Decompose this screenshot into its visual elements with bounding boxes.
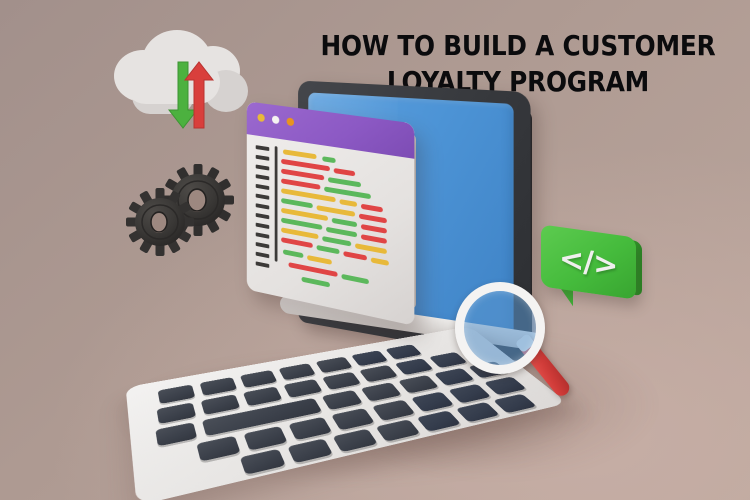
magnifier-lens	[455, 282, 545, 374]
code-editor-window	[240, 112, 415, 307]
illustration-canvas: HOW TO BUILD A CUSTOMER LOYALTY PROGRAM	[0, 0, 750, 500]
code-indent-bar	[275, 146, 278, 262]
code-gutter	[256, 145, 270, 274]
dot-orange-icon	[287, 117, 294, 126]
dot-yellow-icon	[258, 113, 265, 122]
code-speech-bubble: </>	[541, 231, 647, 309]
page-title-line-1: HOW TO BUILD A CUSTOMER	[300, 28, 736, 64]
dot-white-icon	[272, 115, 279, 124]
code-window-body	[247, 101, 415, 326]
